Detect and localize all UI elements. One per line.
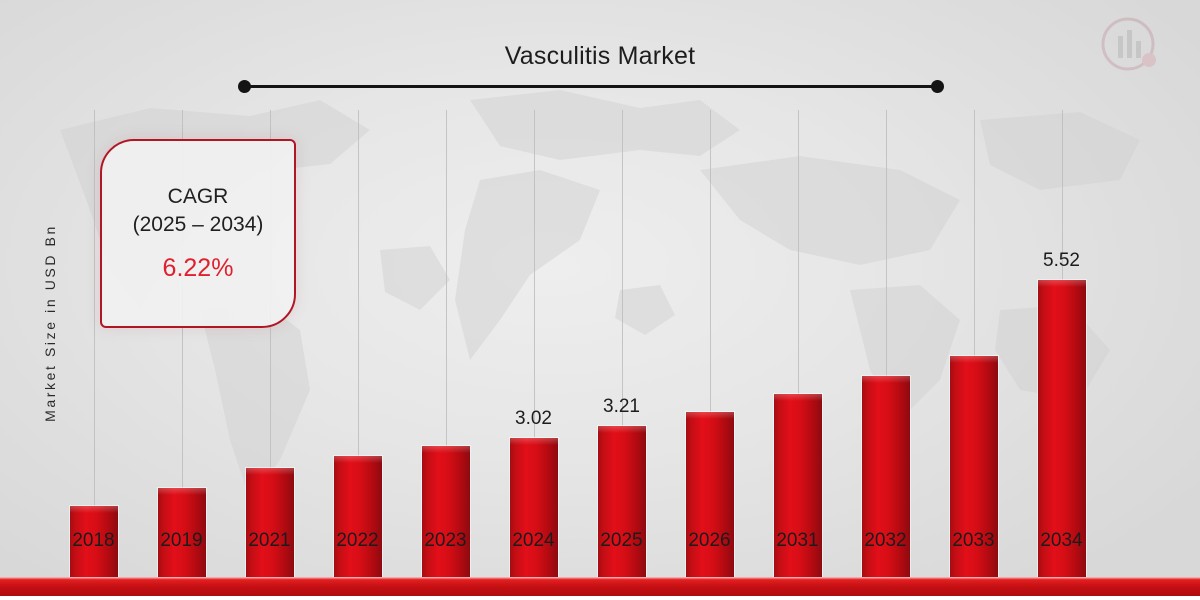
bar-highlight xyxy=(70,506,118,513)
bar-2032[interactable] xyxy=(862,376,910,600)
bar-highlight xyxy=(1038,280,1086,287)
bar-highlight xyxy=(246,468,294,475)
bar-highlight xyxy=(862,376,910,383)
x-tick-2019: 2019 xyxy=(137,530,227,552)
bar-value-label-2034: 5.52 xyxy=(1017,250,1107,272)
x-tick-2034: 2034 xyxy=(1017,530,1107,552)
x-tick-2026: 2026 xyxy=(665,530,755,552)
bar-2025[interactable] xyxy=(598,426,646,600)
footer-red-band xyxy=(0,577,1200,596)
cagr-callout-box: CAGR (2025 – 2034) 6.22% xyxy=(100,139,296,328)
bar-2033[interactable] xyxy=(950,356,998,600)
footer-white-strip xyxy=(0,596,1200,600)
x-tick-2032: 2032 xyxy=(841,530,931,552)
bar-2026[interactable] xyxy=(686,412,734,600)
x-tick-2023: 2023 xyxy=(401,530,491,552)
y-axis-title: Market Size in USD Bn xyxy=(42,133,58,513)
cagr-period: (2025 – 2034) xyxy=(133,211,264,239)
range-indicator-line xyxy=(243,85,937,88)
bar-value-label-2024: 3.02 xyxy=(489,408,579,430)
bar-highlight xyxy=(950,356,998,363)
bar-2031[interactable] xyxy=(774,394,822,600)
bar-highlight xyxy=(510,438,558,445)
range-endpoint-dot-left-icon xyxy=(238,80,251,93)
chart-screenshot: Vasculitis Market Market Size in USD Bn … xyxy=(0,0,1200,600)
cagr-label: CAGR xyxy=(168,184,229,210)
chart-title: Vasculitis Market xyxy=(0,42,1200,71)
bar-highlight xyxy=(158,488,206,495)
x-axis-labels: 2018201920212022202320242025202620312032… xyxy=(62,530,1132,562)
x-tick-2025: 2025 xyxy=(577,530,667,552)
range-endpoint-dot-right-icon xyxy=(931,80,944,93)
x-tick-2018: 2018 xyxy=(49,530,139,552)
bar-highlight xyxy=(422,446,470,453)
bar-highlight xyxy=(686,412,734,419)
bar-highlight xyxy=(334,456,382,463)
bar-highlight xyxy=(774,394,822,401)
x-tick-2024: 2024 xyxy=(489,530,579,552)
x-tick-2021: 2021 xyxy=(225,530,315,552)
bar-2024[interactable] xyxy=(510,438,558,600)
x-tick-2031: 2031 xyxy=(753,530,843,552)
x-tick-2033: 2033 xyxy=(929,530,1019,552)
x-tick-2022: 2022 xyxy=(313,530,403,552)
bar-highlight xyxy=(598,426,646,433)
bar-value-label-2025: 3.21 xyxy=(577,396,667,418)
cagr-value: 6.22% xyxy=(163,254,234,283)
